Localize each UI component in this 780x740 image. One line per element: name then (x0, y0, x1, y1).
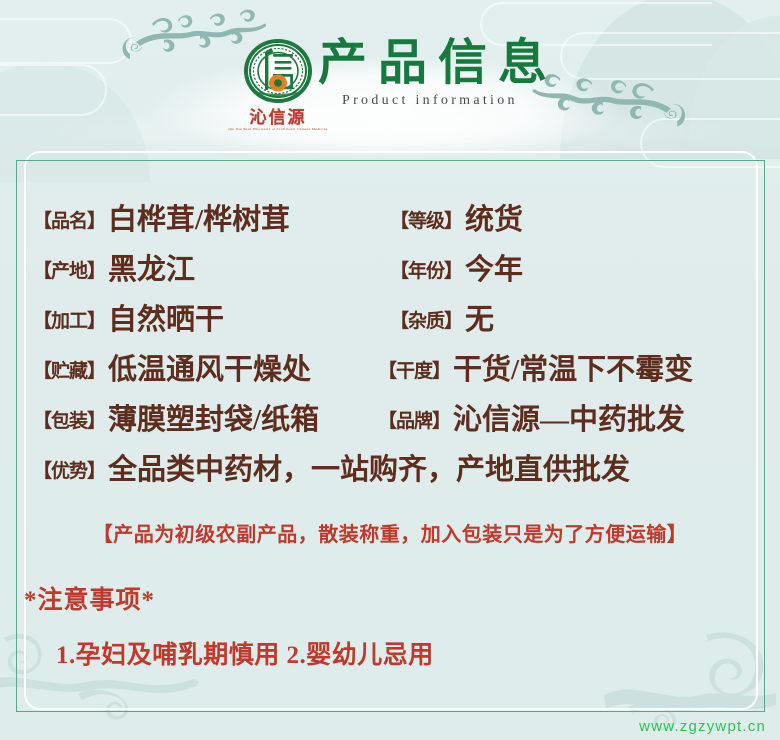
page-subtitle: Product information (342, 93, 558, 109)
site-watermark: www.zgzywpt.cn (639, 718, 766, 735)
page-title-block: 产品信息 Product information (318, 36, 558, 109)
table-row: 【品名】白桦茸/桦树茸 【等级】统货 (0, 196, 780, 246)
info-cell-product-name: 【品名】白桦茸/桦树茸 (33, 196, 290, 238)
info-cell-year: 【年份】今年 (390, 246, 523, 288)
info-cell-processing: 【加工】自然晒干 (33, 296, 224, 338)
info-label: 【品牌】 (378, 411, 450, 432)
seal-logo-icon (241, 38, 315, 108)
table-row: 【贮藏】低温通风干燥处 【干度】干货/常温下不霉变 (0, 346, 780, 396)
info-label: 【等级】 (390, 211, 462, 232)
info-cell-brand: 【品牌】沁信源—中药批发 (378, 396, 685, 438)
info-label: 【贮藏】 (33, 361, 105, 382)
info-value: 白桦茸/桦树茸 (108, 204, 290, 236)
info-value: 黑龙江 (108, 254, 195, 286)
product-information-page: 沁信源 Qin Xin Yuan Wholesale of Traditiona… (0, 0, 780, 740)
info-value: 低温通风干燥处 (108, 354, 311, 386)
info-value: 全品类中药材，一站购齐，产地直供批发 (108, 454, 630, 486)
info-value: 今年 (465, 254, 523, 286)
info-label: 【干度】 (378, 361, 450, 382)
product-info-table: 【品名】白桦茸/桦树茸 【等级】统货 【产地】黑龙江 【年份】今年 【加工】自然… (0, 196, 780, 498)
brand-subtitle-text: Qin Xin Yuan Wholesale of Traditional Ch… (228, 128, 328, 131)
info-label: 【加工】 (33, 311, 105, 332)
table-row: 【优势】全品类中药材，一站购齐，产地直供批发 (0, 446, 780, 498)
info-cell-advantage: 【优势】全品类中药材，一站购齐，产地直供批发 (33, 446, 630, 488)
info-cell-dryness: 【干度】干货/常温下不霉变 (378, 346, 693, 388)
info-label: 【杂质】 (390, 311, 462, 332)
brand-name-text: 沁信源 (229, 109, 327, 126)
table-row: 【加工】自然晒干 【杂质】无 (0, 296, 780, 346)
info-value: 沁信源—中药批发 (453, 404, 685, 436)
info-cell-origin: 【产地】黑龙江 (33, 246, 195, 288)
warning-title: *注意事项* (24, 580, 155, 616)
table-row: 【包装】薄膜塑封袋/纸箱 【品牌】沁信源—中药批发 (0, 396, 780, 446)
info-cell-packaging: 【包装】薄膜塑封袋/纸箱 (33, 396, 319, 438)
info-cell-grade: 【等级】统货 (390, 196, 523, 238)
info-value: 无 (465, 304, 494, 336)
info-cell-storage: 【贮藏】低温通风干燥处 (33, 346, 311, 388)
info-label: 【优势】 (33, 461, 105, 482)
page-header: 沁信源 Qin Xin Yuan Wholesale of Traditiona… (0, 0, 780, 150)
page-title: 产品信息 (318, 36, 558, 91)
table-row: 【产地】黑龙江 【年份】今年 (0, 246, 780, 296)
info-label: 【品名】 (33, 211, 105, 232)
info-label: 【年份】 (390, 261, 462, 282)
info-cell-impurity: 【杂质】无 (390, 296, 494, 338)
warning-items: 1.孕妇及哺乳期慎用 2.婴幼儿忌用 (56, 635, 434, 671)
info-value: 自然晒干 (108, 304, 224, 336)
info-value: 统货 (465, 204, 523, 236)
info-value: 薄膜塑封袋/纸箱 (108, 404, 319, 436)
brand-logo[interactable]: 沁信源 Qin Xin Yuan Wholesale of Traditiona… (229, 38, 327, 131)
product-notice-text: 【产品为初级农副产品，散装称重，加入包装只是为了方便运输】 (0, 518, 780, 547)
info-value: 干货/常温下不霉变 (453, 354, 693, 386)
info-label: 【包装】 (33, 411, 105, 432)
info-label: 【产地】 (33, 261, 105, 282)
